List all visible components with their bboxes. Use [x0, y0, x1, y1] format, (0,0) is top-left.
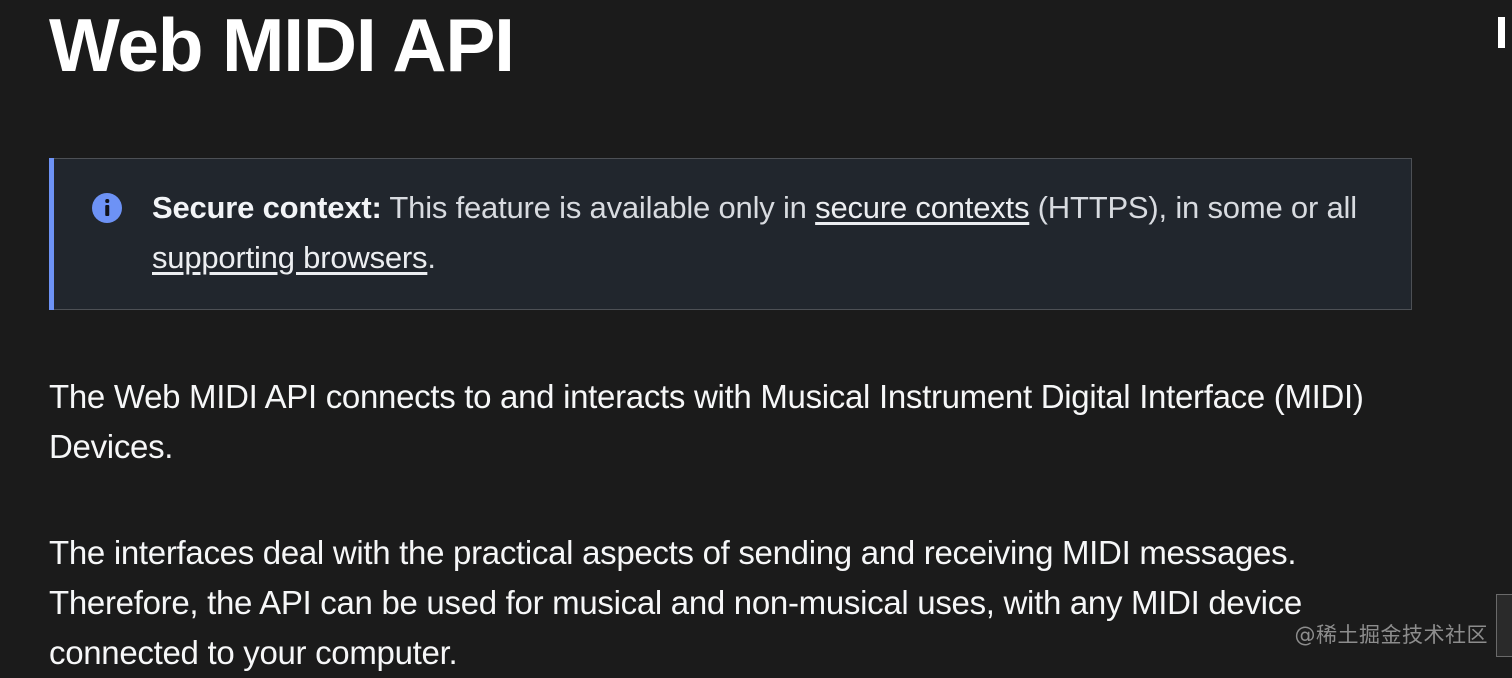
vertical-scrollbar[interactable]	[1498, 0, 1512, 657]
note-label: Secure context:	[152, 190, 382, 225]
page-canvas: Web MIDI API Secure context: This featur…	[0, 0, 1512, 657]
article-container: Web MIDI API Secure context: This featur…	[49, 0, 1413, 83]
note-text: Secure context: This feature is availabl…	[152, 183, 1362, 283]
watermark-text: @稀土掘金技术社区	[1295, 619, 1489, 649]
note-text-after: .	[427, 240, 435, 275]
note-accent-bar	[49, 158, 54, 310]
corner-panel	[1496, 594, 1512, 657]
note-text-before-link: This feature is available only in	[382, 190, 816, 225]
page-title: Web MIDI API	[49, 0, 1413, 83]
info-icon	[92, 193, 122, 223]
paragraph-interfaces: The interfaces deal with the practical a…	[49, 528, 1389, 678]
note-text-middle: (HTTPS), in some or all	[1029, 190, 1357, 225]
supporting-browsers-link[interactable]: supporting browsers	[152, 240, 427, 275]
paragraph-intro: The Web MIDI API connects to and interac…	[49, 372, 1389, 472]
article-body: The Web MIDI API connects to and interac…	[49, 372, 1413, 678]
secure-contexts-link[interactable]: secure contexts	[815, 190, 1029, 225]
secure-context-note: Secure context: This feature is availabl…	[49, 158, 1412, 310]
